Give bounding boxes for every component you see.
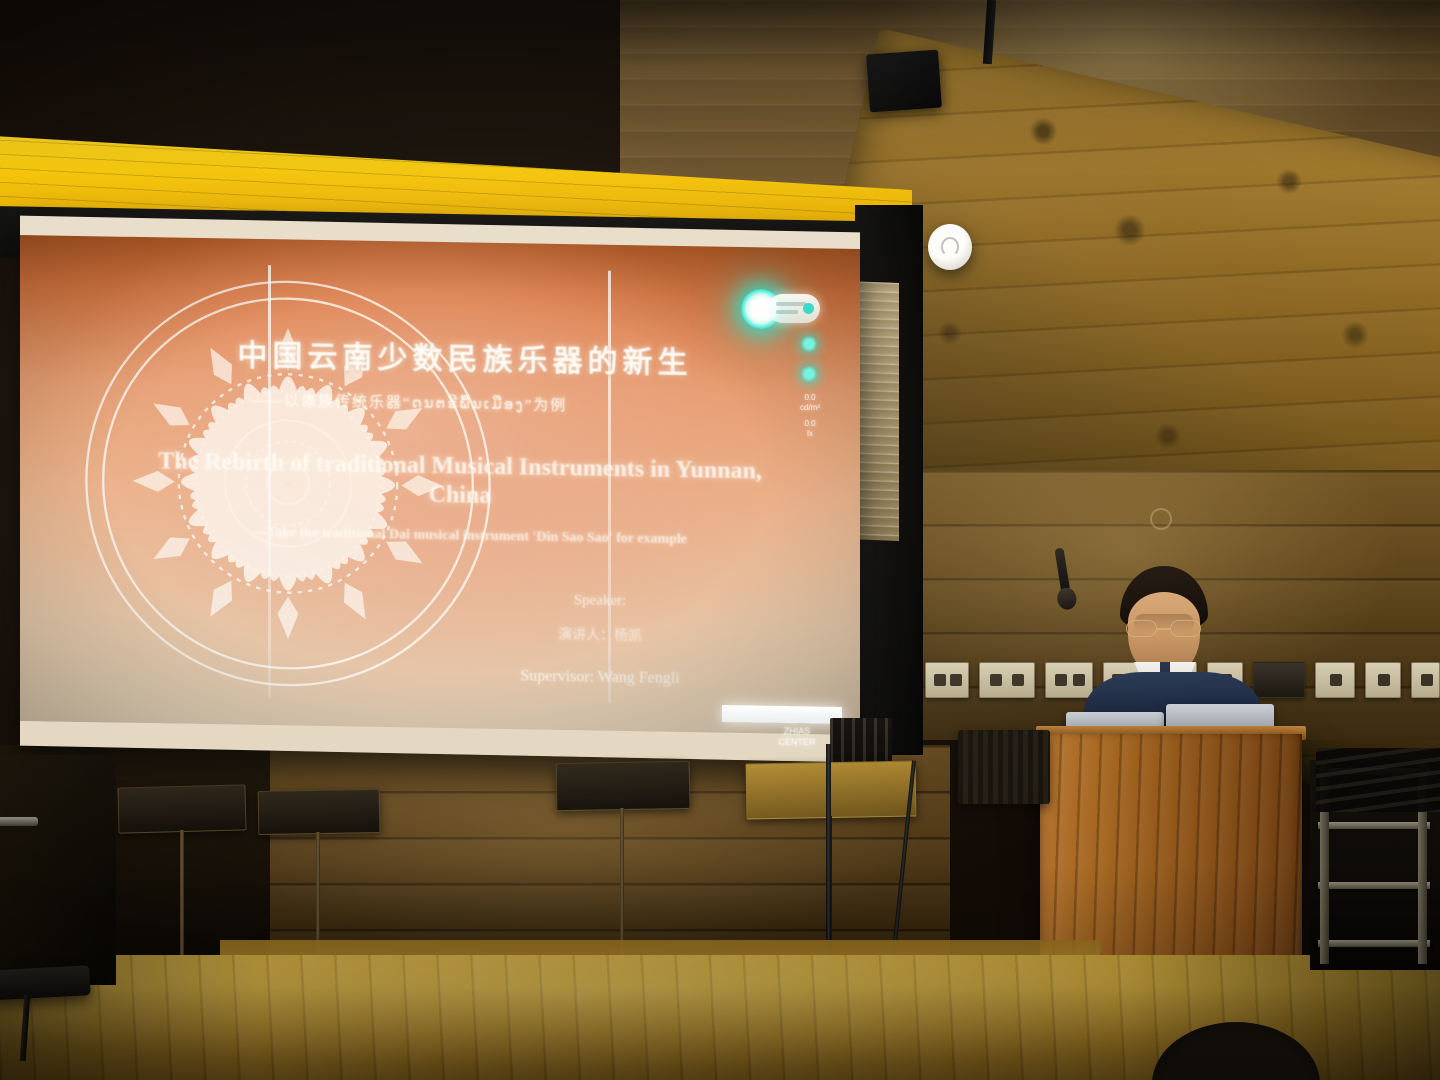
glasses-icon [1124,620,1204,638]
screen-footer-caption: ZHIAS CENTER [762,726,832,749]
stacked-chairs [1316,748,1440,812]
wifi-access-point-icon [928,224,972,270]
pill-line-1 [776,302,806,306]
pill-status-dot-icon [803,303,814,314]
slide-divider-left [268,265,271,697]
overlay-icon-stack[interactable]: 0.0 cd/m² 0.0 lx [798,336,822,446]
outlet-plate [1411,662,1440,698]
outlet-plate [925,662,969,698]
slide-title-english: The Rebirth of traditional Musical Instr… [150,447,770,516]
outlet-plate [979,662,1035,698]
overlay-icon-lower[interactable] [801,366,817,382]
overlay-readout-2-unit: lx [798,430,822,439]
overlay-readout-1-unit: cd/m² [798,404,822,413]
slide-title-chinese: 中国云南少数民族乐器的新生 [205,330,725,383]
slide-speaker-label: Speaker: [450,590,750,612]
lecture-hall-photo: 中国云南少数民族乐器的新生 ——以傣族传统乐器“ດນຕຣີພື້ນເມືອງ”为… [0,0,1440,1080]
slide-subtitle-english: —Take the traditional Dai musical instru… [170,524,770,550]
outlet-plate [1365,662,1401,698]
overlay-readout-1: 0.0 [798,394,822,403]
projection-screen: 中国云南少数民族乐器的新生 ——以傣族传统乐器“ດນຕຣີພື້ນເມືອງ”为… [20,216,860,763]
outlet-plate [1315,662,1355,698]
dark-cabinet [0,755,116,985]
dai-lotus-mandala-icon [78,270,498,697]
bench-seat [0,965,91,1000]
wall-knob-icon [1150,508,1172,530]
slide-subtitle-chinese: ——以傣族传统乐器“ດນຕຣີພື້ນເມືອງ”为例 [250,389,810,419]
overlay-tooltip-pill[interactable] [768,294,820,323]
outlet-plate [1045,662,1093,698]
radiator-grille [958,730,1050,804]
presentation-slide: 中国云南少数民族乐器的新生 ——以傣族传统乐器“ດນຕຣີພື້ນເມືອງ”为… [20,235,860,735]
overlay-readout-2: 0.0 [798,420,822,429]
overlay-icon-upper[interactable] [801,336,817,352]
slide-speaker-name: 演讲人：杨凯 [450,622,750,647]
slide-supervisor: Supervisor: Wang Fengli [440,666,760,689]
pill-line-2 [776,310,798,314]
caption-line-1: ZHIAS [762,726,832,737]
caption-line-2: CENTER [762,737,832,748]
slide-divider-right [608,271,611,703]
loudspeaker-icon [866,50,942,113]
connector-plate [1253,662,1305,698]
screen-light-bar [722,705,842,724]
